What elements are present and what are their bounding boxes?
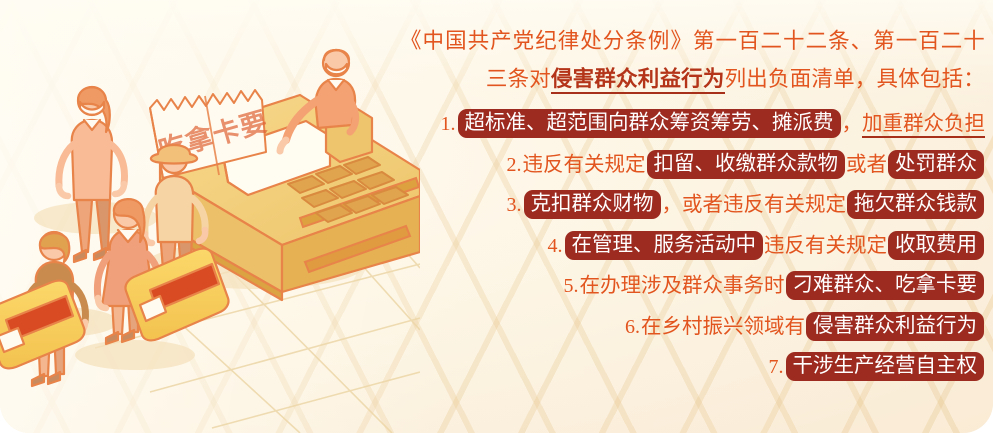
rule-plain-text: 违反有关规定 bbox=[764, 235, 887, 257]
rule-number: 5. bbox=[564, 275, 580, 297]
rule-number: 3. bbox=[507, 194, 523, 216]
rule-item: 2.违反有关规定扣留、收缴群众款物或者处罚群众 bbox=[400, 145, 985, 186]
rules-list: 1.超标准、超范围向群众筹资筹劳、摊派费，加重群众负担2.违反有关规定扣留、收缴… bbox=[400, 104, 985, 388]
headline-part2: 列出负面清单，具体包括： bbox=[725, 67, 985, 91]
rule-highlight-pill: 刁难群众、吃拿卡要 bbox=[786, 271, 985, 300]
headline: 《中国共产党纪律处分条例》第一百二十二条、第一百二十三条对侵害群众利益行为列出负… bbox=[400, 22, 985, 98]
headline-emphasis: 侵害群众利益行为 bbox=[551, 67, 725, 94]
rule-plain-text: 在办理涉及群众事务时 bbox=[580, 275, 785, 297]
rule-number: 7. bbox=[769, 356, 785, 378]
rule-number: 2. bbox=[507, 154, 523, 176]
rule-highlight-pill: 拖欠群众钱款 bbox=[847, 190, 984, 219]
rule-highlight-pill: 收取费用 bbox=[888, 231, 984, 260]
rule-highlight-pill: 干涉生产经营自主权 bbox=[786, 352, 985, 381]
rule-highlight-pill: 扣留、收缴群众款物 bbox=[647, 150, 846, 179]
rule-underlined-text: 加重群众负担 bbox=[862, 113, 985, 138]
rule-number: 6. bbox=[625, 316, 641, 338]
rule-item: 7.干涉生产经营自主权 bbox=[400, 347, 985, 388]
rule-plain-text: ， bbox=[842, 113, 863, 135]
rule-plain-text: 在乡村振兴领域有 bbox=[641, 316, 805, 338]
rule-plain-text: ，或者违反有关规定 bbox=[662, 194, 847, 216]
rule-item: 3.克扣群众财物，或者违反有关规定拖欠群众钱款 bbox=[400, 185, 985, 226]
rule-highlight-pill: 克扣群众财物 bbox=[524, 190, 661, 219]
rule-plain-text: 或者 bbox=[846, 154, 887, 176]
rule-number: 1. bbox=[441, 113, 457, 135]
rule-item: 1.超标准、超范围向群众筹资筹劳、摊派费，加重群众负担 bbox=[400, 104, 985, 145]
text-content-column: 《中国共产党纪律处分条例》第一百二十二条、第一百二十三条对侵害群众利益行为列出负… bbox=[400, 22, 985, 388]
rule-highlight-pill: 处罚群众 bbox=[888, 150, 984, 179]
rule-plain-text: 违反有关规定 bbox=[523, 154, 646, 176]
illustration-isometric-scene: 吃拿卡要 bbox=[0, 0, 420, 433]
rule-item: 4.在管理、服务活动中违反有关规定收取费用 bbox=[400, 226, 985, 267]
rule-number: 4. bbox=[548, 235, 564, 257]
rule-item: 5.在办理涉及群众事务时刁难群众、吃拿卡要 bbox=[400, 266, 985, 307]
rule-highlight-pill: 侵害群众利益行为 bbox=[806, 312, 984, 341]
infographic-poster: 吃拿卡要 bbox=[0, 0, 993, 433]
rule-highlight-pill: 在管理、服务活动中 bbox=[565, 231, 764, 260]
giant-bank-card-left bbox=[0, 281, 85, 369]
rule-highlight-pill: 超标准、超范围向群众筹资筹劳、摊派费 bbox=[458, 109, 841, 138]
rule-item: 6.在乡村振兴领域有侵害群众利益行为 bbox=[400, 307, 985, 348]
